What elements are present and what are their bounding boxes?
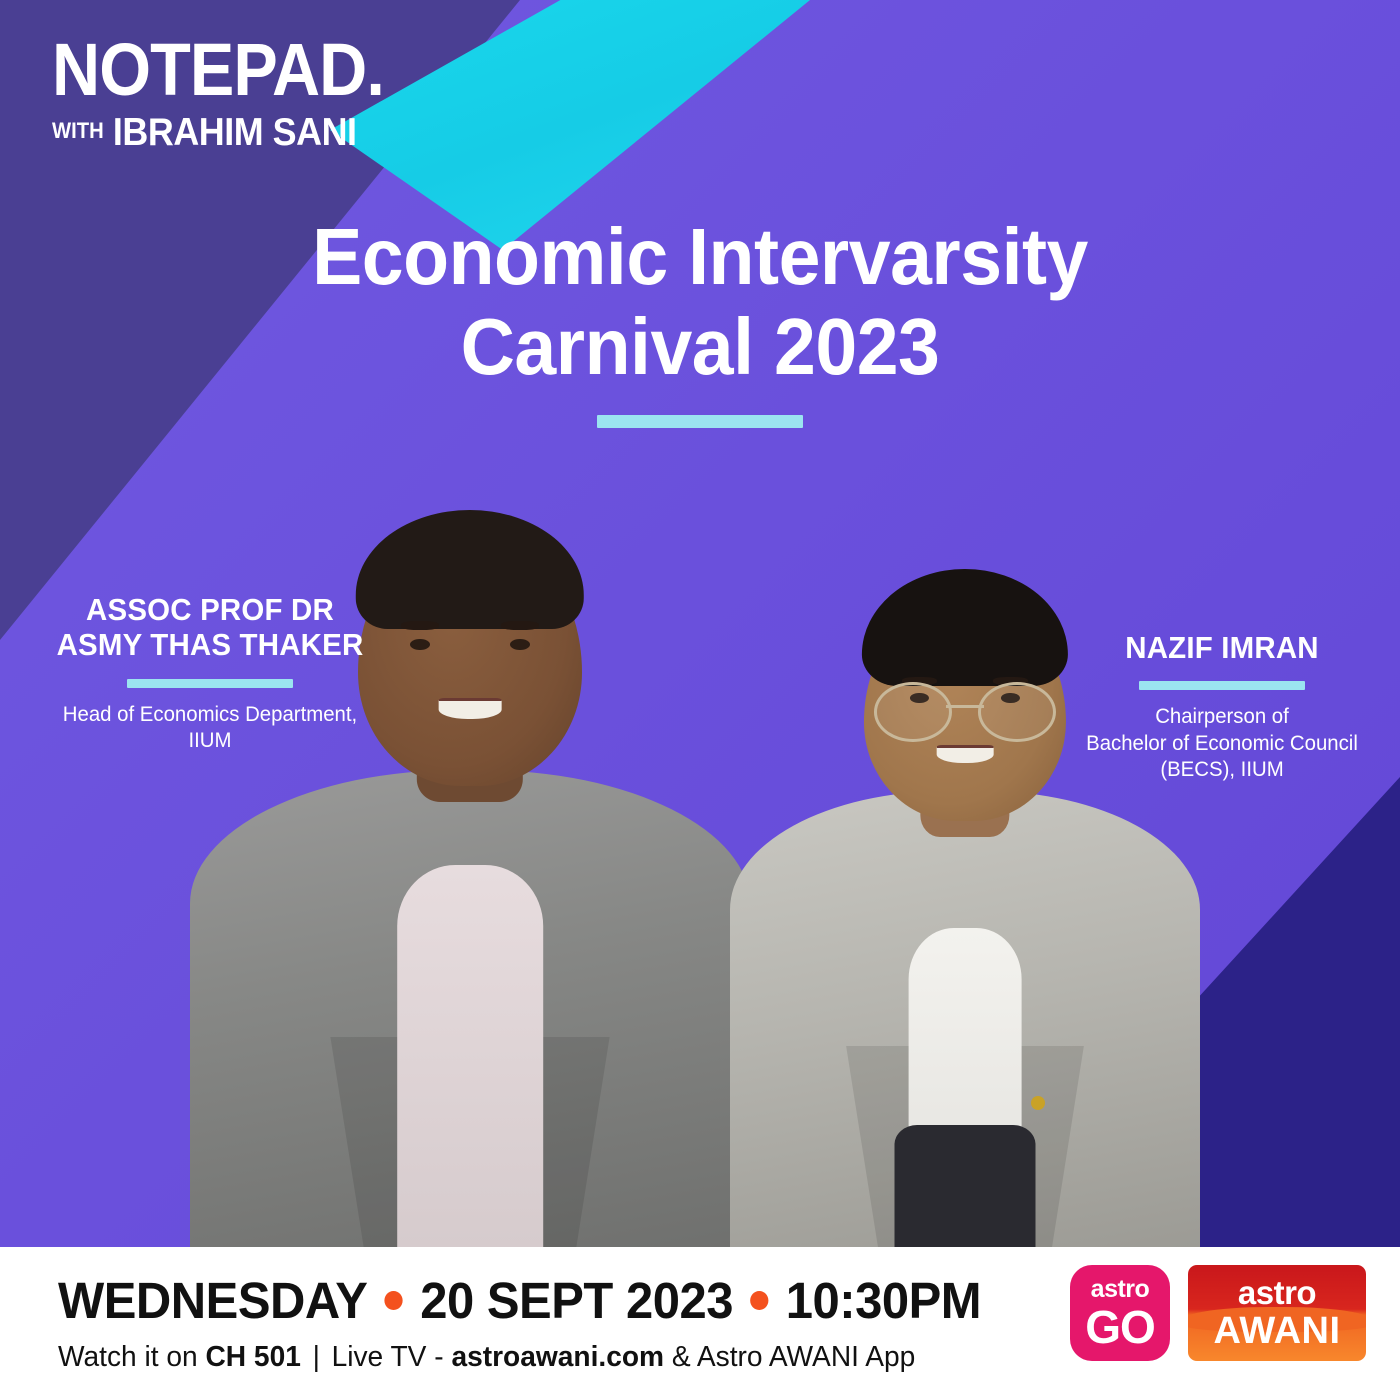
footer-bar: WEDNESDAY 20 SEPT 2023 10:30PM Watch it …	[0, 1247, 1400, 1400]
speaker-name-line-2: ASMY THAS THAKER	[30, 627, 391, 662]
astro-go-logo[interactable]: astro GO	[1070, 1265, 1170, 1361]
show-host-line: WITH IBRAHIM SANI	[52, 111, 391, 155]
website-link[interactable]: astroawani.com	[451, 1341, 664, 1373]
astro-awani-wordmark-top: astro	[1238, 1276, 1316, 1309]
head	[864, 596, 1066, 822]
eye-left	[410, 639, 430, 650]
speaker-role-line-2: Bachelor of Economic Council	[1067, 731, 1377, 757]
broadcast-date: 20 SEPT 2023	[420, 1271, 733, 1330]
live-tv-label: Live TV -	[332, 1341, 444, 1373]
watch-instructions: Watch it on CH 501 | Live TV - astroawan…	[58, 1341, 915, 1374]
dress-shirt	[397, 865, 543, 1247]
speaker-photo-left	[190, 452, 750, 1247]
speaker-role-line-1: Head of Economics Department,	[26, 702, 395, 728]
astro-go-wordmark-bottom: GO	[1085, 1304, 1155, 1350]
title-underline-rule	[597, 415, 803, 428]
hair	[862, 569, 1068, 686]
astro-awani-wordmark-bottom: AWANI	[1213, 1312, 1340, 1350]
host-name: IBRAHIM SANI	[113, 111, 357, 155]
astro-go-wordmark-top: astro	[1091, 1277, 1150, 1302]
speaker-photos	[0, 447, 1400, 1247]
show-logo: NOTEPAD. WITH IBRAHIM SANI	[52, 34, 421, 155]
eyeglasses-icon	[870, 682, 1060, 736]
speaker-role-line-2: IIUM	[26, 728, 395, 754]
speaker-name-line-1: NAZIF IMRAN	[1070, 630, 1374, 665]
speaker-caption-left: ASSOC PROF DR ASMY THAS THAKER Head of E…	[20, 592, 400, 755]
bullet-separator-icon	[750, 1291, 768, 1310]
bullet-separator-icon	[385, 1291, 403, 1310]
show-title: NOTEPAD.	[52, 34, 384, 105]
event-title: Economic Intervarsity Carnival 2023	[0, 212, 1400, 428]
brand-logos: astro GO astro AWANI	[1070, 1265, 1366, 1361]
promo-poster: NOTEPAD. WITH IBRAHIM SANI Economic Inte…	[0, 0, 1400, 1400]
event-title-line-2: Carnival 2023	[42, 302, 1358, 392]
mouth	[937, 745, 994, 764]
speaker-underline-rule	[1139, 681, 1305, 690]
glasses-bridge	[946, 705, 984, 708]
speaker-photo-right	[730, 487, 1200, 1247]
astro-awani-logo[interactable]: astro AWANI	[1188, 1265, 1366, 1361]
lens-left	[874, 682, 952, 742]
eyebrow-left	[401, 621, 439, 630]
mouth	[439, 698, 502, 719]
speaker-role-line-3: (BECS), IIUM	[1067, 757, 1377, 783]
lapel-pin-icon	[1031, 1096, 1045, 1110]
eye-right	[510, 639, 530, 650]
speaker-underline-rule	[127, 679, 293, 688]
watch-prefix: Watch it on	[58, 1341, 198, 1373]
event-title-line-1: Economic Intervarsity	[42, 212, 1358, 302]
broadcast-datetime: WEDNESDAY 20 SEPT 2023 10:30PM	[58, 1271, 981, 1330]
eyebrow-right	[501, 621, 539, 630]
trousers	[895, 1125, 1036, 1247]
speaker-caption-right: NAZIF IMRAN Chairperson of Bachelor of E…	[1062, 630, 1382, 784]
with-label: WITH	[52, 118, 104, 144]
broadcast-day: WEDNESDAY	[58, 1271, 367, 1330]
speaker-name-line-1: ASSOC PROF DR	[30, 592, 391, 627]
channel-number: CH 501	[205, 1341, 300, 1373]
separator-pipe: |	[313, 1341, 320, 1373]
lens-right	[978, 682, 1056, 742]
broadcast-time: 10:30PM	[786, 1271, 981, 1330]
speaker-role-line-1: Chairperson of	[1067, 704, 1377, 730]
app-label: & Astro AWANI App	[672, 1341, 915, 1373]
